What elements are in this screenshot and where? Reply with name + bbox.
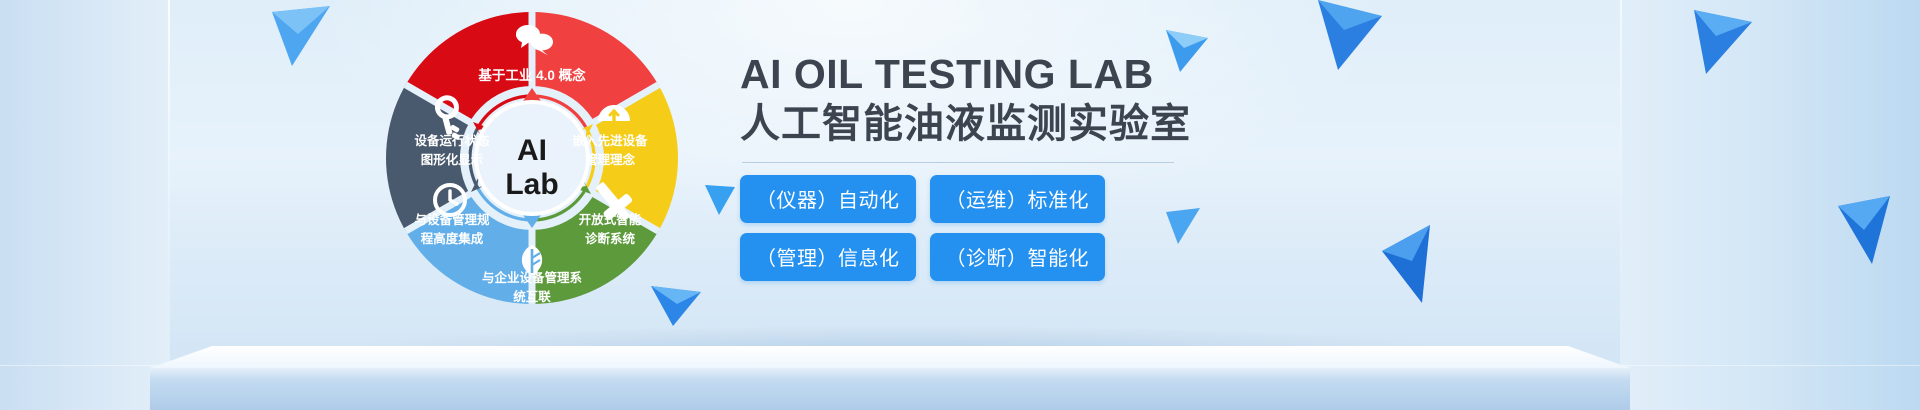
triangle-decoration-icon <box>1690 10 1754 76</box>
upload-circle-icon <box>600 107 628 123</box>
title-english: AI OIL TESTING LAB <box>740 52 1500 98</box>
wheel-label-management-integration-2: 程高度集成 <box>421 231 484 246</box>
headline-block: AI OIL TESTING LAB 人工智能油液监测实验室 （仪器）自动化 （… <box>740 52 1500 281</box>
triangle-decoration-icon <box>705 183 739 217</box>
wheel-label-open-diagnosis-2: 诊断系统 <box>585 231 636 246</box>
feature-badge-instrument-automation[interactable]: （仪器）自动化 <box>740 175 916 223</box>
wheel-label-management-integration-1: 与设备管理规 <box>414 212 490 227</box>
feature-badge-list: （仪器）自动化 （运维）标准化 （管理）信息化 （诊断）智能化 <box>740 175 1500 281</box>
title-chinese: 人工智能油液监测实验室 <box>740 100 1500 148</box>
background-corner-edge-right <box>1620 0 1622 300</box>
wheel-label-enterprise-link-1: 与企业设备管理系 <box>482 270 583 285</box>
ai-lab-wheel-diagram: AI Lab <box>382 8 682 308</box>
wheel-label-industry40: 基于工业 4.0 概念 <box>478 67 586 83</box>
ai-oil-testing-lab-banner: AI Lab <box>0 0 1920 410</box>
wheel-label-status-visualization-1: 设备运行状态 <box>414 133 490 148</box>
podium-face-sheen <box>150 366 1630 380</box>
title-divider <box>742 162 1174 163</box>
wheel-label-advanced-equipment-2: 管理理念 <box>585 152 636 167</box>
feature-badge-management-informatization[interactable]: （管理）信息化 <box>740 233 916 281</box>
triangle-decoration-icon <box>1838 196 1898 266</box>
background-left-wall <box>0 0 170 410</box>
wheel-label-advanced-equipment-1: 嵌入先进设备 <box>572 133 648 148</box>
wheel-label-status-visualization-2: 图形化显示 <box>421 152 484 167</box>
podium-top-surface <box>150 346 1630 368</box>
wheel-center-line2: Lab <box>505 168 558 201</box>
wheel-label-enterprise-link-2: 统互联 <box>513 289 551 304</box>
wheel-label-open-diagnosis-1: 开放式智能 <box>579 212 642 227</box>
wheel-center-line1: AI <box>517 134 547 167</box>
background-corner-edge-left <box>168 0 170 300</box>
triangle-decoration-icon <box>272 6 332 68</box>
feature-badge-diagnosis-intelligence[interactable]: （诊断）智能化 <box>930 233 1106 281</box>
feature-badge-ops-standardization[interactable]: （运维）标准化 <box>930 175 1106 223</box>
